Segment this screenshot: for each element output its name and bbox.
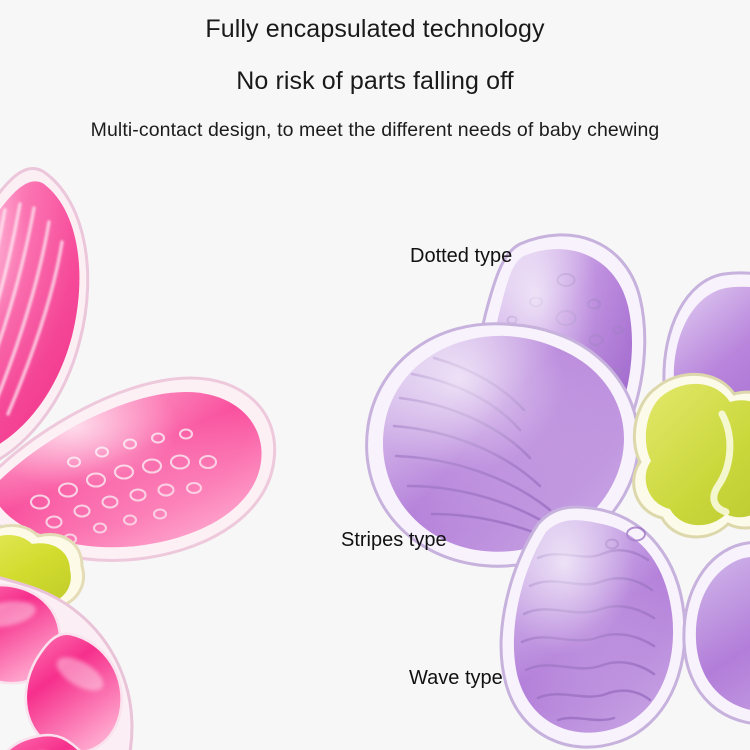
pink-teether-product-image xyxy=(0,130,294,750)
purple-petal-waves xyxy=(501,507,685,747)
purple-teether-center xyxy=(634,374,750,537)
product-feature-image: Fully encapsulated technology No risk of… xyxy=(0,0,750,750)
headings-block: Fully encapsulated technology No risk of… xyxy=(0,0,750,141)
callout-label-dotted-type: Dotted type xyxy=(410,246,512,266)
callout-label-wave-type: Wave type xyxy=(409,668,503,688)
callout-label-stripes-type: Stripes type xyxy=(341,530,447,550)
heading-line-2: No risk of parts falling off xyxy=(0,69,750,94)
purple-petal-lower-right-edge xyxy=(684,542,750,725)
heading-line-1: Fully encapsulated technology xyxy=(0,17,750,42)
